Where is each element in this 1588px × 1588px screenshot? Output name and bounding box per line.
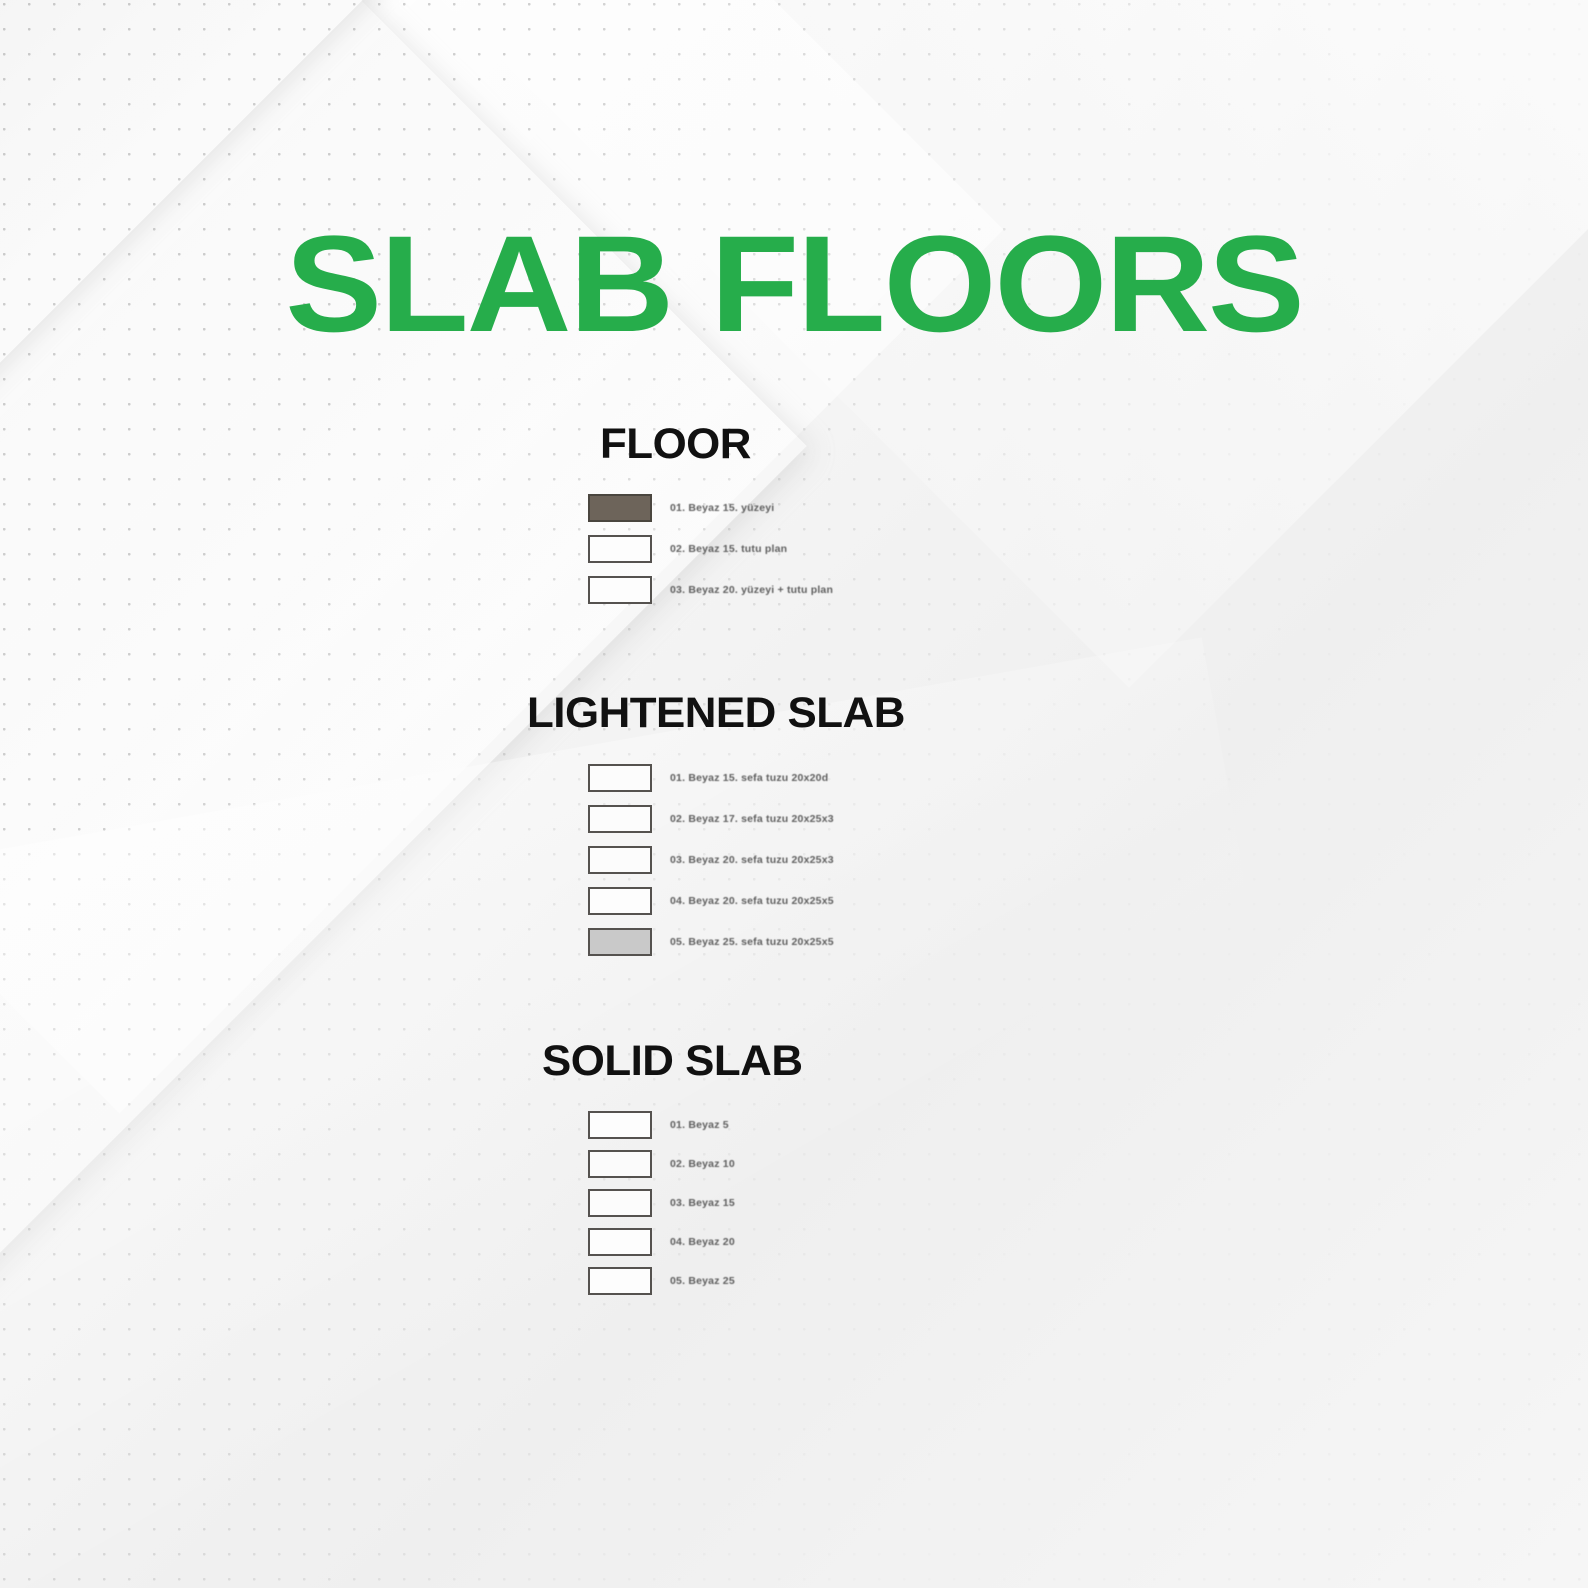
section-floor: FLOOR 01. Beyaz 15. yüzeyi02. Beyaz 15. … xyxy=(0,423,1588,610)
legend-floor: 01. Beyaz 15. yüzeyi02. Beyaz 15. tutu p… xyxy=(588,487,1588,610)
legend-row: 03. Beyaz 15 xyxy=(588,1183,1588,1222)
legend-row: 03. Beyaz 20. yüzeyi + tutu plan xyxy=(588,569,1588,610)
legend-label: 04. Beyaz 20 xyxy=(670,1236,735,1248)
legend-row: 05. Beyaz 25. sefa tuzu 20x25x5 xyxy=(588,921,1588,962)
page-title: SLAB FLOORS xyxy=(0,216,1588,353)
legend-label: 04. Beyaz 20. sefa tuzu 20x25x5 xyxy=(670,895,834,907)
legend-row: 02. Beyaz 17. sefa tuzu 20x25x3 xyxy=(588,798,1588,839)
legend-row: 02. Beyaz 15. tutu plan xyxy=(588,528,1588,569)
legend-row: 05. Beyaz 25 xyxy=(588,1261,1588,1300)
legend-row: 04. Beyaz 20 xyxy=(588,1222,1588,1261)
legend-row: 04. Beyaz 20. sefa tuzu 20x25x5 xyxy=(588,880,1588,921)
legend-label: 05. Beyaz 25. sefa tuzu 20x25x5 xyxy=(670,936,834,948)
section-heading-lightened-slab: LIGHTENED SLAB xyxy=(527,692,1588,735)
legend-swatch xyxy=(588,887,652,915)
legend-row: 01. Beyaz 5 xyxy=(588,1105,1588,1144)
legend-label: 03. Beyaz 20. yüzeyi + tutu plan xyxy=(670,584,833,596)
legend-label: 03. Beyaz 15 xyxy=(670,1197,735,1209)
legend-row: 03. Beyaz 20. sefa tuzu 20x25x3 xyxy=(588,839,1588,880)
legend-swatch xyxy=(588,1150,652,1178)
section-heading-floor: FLOOR xyxy=(600,423,1588,466)
legend-swatch xyxy=(588,1228,652,1256)
legend-swatch xyxy=(588,1267,652,1295)
legend-label: 01. Beyaz 5 xyxy=(670,1119,729,1131)
legend-swatch xyxy=(588,928,652,956)
legend-swatch xyxy=(588,535,652,563)
legend-swatch xyxy=(588,846,652,874)
legend-swatch xyxy=(588,576,652,604)
poster-canvas: SLAB FLOORS FLOOR 01. Beyaz 15. yüzeyi02… xyxy=(0,0,1588,1588)
legend-label: 02. Beyaz 15. tutu plan xyxy=(670,543,787,555)
legend-label: 01. Beyaz 15. yüzeyi xyxy=(670,502,774,514)
legend-swatch xyxy=(588,494,652,522)
poster-content: SLAB FLOORS FLOOR 01. Beyaz 15. yüzeyi02… xyxy=(0,0,1588,1588)
legend-label: 02. Beyaz 10 xyxy=(670,1158,735,1170)
legend-swatch xyxy=(588,1111,652,1139)
legend-label: 05. Beyaz 25 xyxy=(670,1275,735,1287)
legend-row: 01. Beyaz 15. sefa tuzu 20x20d xyxy=(588,757,1588,798)
legend-solid-slab: 01. Beyaz 502. Beyaz 1003. Beyaz 1504. B… xyxy=(588,1105,1588,1300)
section-solid-slab: SOLID SLAB 01. Beyaz 502. Beyaz 1003. Be… xyxy=(0,1040,1588,1300)
legend-label: 03. Beyaz 20. sefa tuzu 20x25x3 xyxy=(670,854,834,866)
legend-swatch xyxy=(588,1189,652,1217)
legend-label: 01. Beyaz 15. sefa tuzu 20x20d xyxy=(670,772,828,784)
section-heading-solid-slab: SOLID SLAB xyxy=(542,1040,1588,1083)
legend-row: 01. Beyaz 15. yüzeyi xyxy=(588,487,1588,528)
legend-swatch xyxy=(588,805,652,833)
legend-lightened-slab: 01. Beyaz 15. sefa tuzu 20x20d02. Beyaz … xyxy=(588,757,1588,962)
legend-swatch xyxy=(588,764,652,792)
section-lightened-slab: LIGHTENED SLAB 01. Beyaz 15. sefa tuzu 2… xyxy=(0,692,1588,962)
legend-label: 02. Beyaz 17. sefa tuzu 20x25x3 xyxy=(670,813,834,825)
legend-row: 02. Beyaz 10 xyxy=(588,1144,1588,1183)
